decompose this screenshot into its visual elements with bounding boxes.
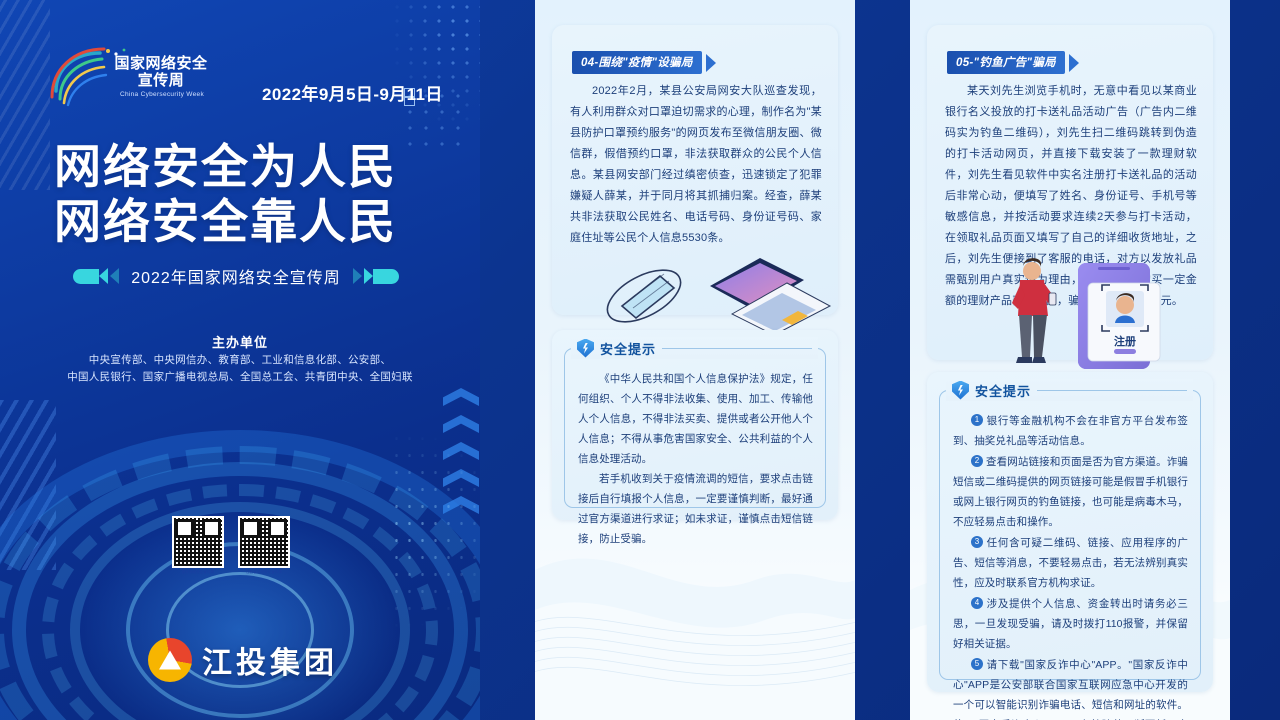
qr-code-1[interactable]: 国家网络安全宣传周 bbox=[172, 516, 224, 568]
subtitle-left-chevrons bbox=[73, 268, 119, 284]
tip-text-2: 查看网站链接和页面是否为官方渠道。诈骗短信或二维码提供的网页链接可能是假冒手机银… bbox=[953, 456, 1188, 528]
qr-code-group: 国家网络安全宣传周 江西省网络安全宣传周 bbox=[172, 516, 290, 568]
laptop-icon bbox=[710, 258, 830, 335]
tip-item-3: 3任何含可疑二维码、链接、应用程序的广告、短信等消息，不要轻易点击，若无法辨别真… bbox=[953, 533, 1188, 593]
cybersecurity-week-logo: 国家网络安全 宣传周 China Cybersecurity Week bbox=[48, 47, 228, 111]
face-mask-icon bbox=[599, 260, 688, 333]
story-badge-label-05: 05-"钓鱼广告"骗局 bbox=[947, 51, 1065, 74]
phone-register-label: 注册 bbox=[1114, 334, 1136, 348]
organizer-line-2: 中国人民银行、国家广播电视总局、全国总工会、共青团中央、全国妇联 bbox=[67, 371, 413, 383]
story-badge-04: 04-围绕"疫情"设骗局 bbox=[572, 51, 716, 74]
tips-paragraph-1: 《中华人民共和国个人信息保护法》规定，任何组织、个人不得非法收集、使用、加工、传… bbox=[578, 369, 813, 469]
company-logo: 江投集团 bbox=[148, 638, 338, 682]
headline-line-2: 网络安全靠人民 bbox=[54, 194, 454, 249]
logo-title-cn: 国家网络安全 宣传周 bbox=[106, 55, 216, 89]
main-headline: 网络安全为人民 网络安全靠人民 bbox=[54, 139, 454, 249]
tip-number-2: 2 bbox=[971, 455, 983, 467]
poster-canvas: 国家网络安全 宣传周 China Cybersecurity Week 2022… bbox=[0, 0, 1280, 720]
shield-icon-right bbox=[952, 381, 969, 400]
shield-icon bbox=[577, 339, 594, 358]
qr-code-2[interactable]: 江西省网络安全宣传周 bbox=[238, 516, 290, 568]
tip-number-5: 5 bbox=[971, 658, 983, 670]
tips-title: 安全提示 bbox=[600, 339, 656, 358]
organizer-title: 主办单位 bbox=[0, 332, 480, 351]
left-hero-panel: 国家网络安全 宣传周 China Cybersecurity Week 2022… bbox=[0, 0, 480, 720]
tip-text-4: 涉及提供个人信息、资金转出时请务必三思，一旦发现受骗，请及时拨打110报警，并保… bbox=[953, 598, 1188, 650]
tips-body-middle: 《中华人民共和国个人信息保护法》规定，任何组织、个人不得非法收集、使用、加工、传… bbox=[578, 369, 813, 549]
qr-code-1-label: 国家网络安全宣传周 bbox=[172, 570, 224, 575]
diagonal-stripes-decor bbox=[0, 0, 50, 190]
badge-arrow-icon bbox=[706, 54, 716, 72]
organizer-line-1: 中央宣传部、中央网信办、教育部、工业和信息化部、公安部、 bbox=[89, 354, 391, 366]
tip-text-5: 请下载"国家反诈中心"APP。"国家反诈中心"APP是公安部联合国家互联网应急中… bbox=[953, 659, 1188, 720]
tips-body-right: 1银行等金融机构不会在非官方平台发布签到、抽奖兑礼品等活动信息。 2查看网站链接… bbox=[953, 411, 1188, 720]
right-content-panel: 05-"钓鱼广告"骗局 某天刘先生浏览手机时，无意中看见以某商业银行名义投放的打… bbox=[910, 0, 1230, 720]
mask-and-laptop-illustration bbox=[582, 250, 832, 335]
tip-item-1: 1银行等金融机构不会在非官方平台发布签到、抽奖兑礼品等活动信息。 bbox=[953, 411, 1188, 451]
tip-text-3: 任何含可疑二维码、链接、应用程序的广告、短信等消息，不要轻易点击，若无法辨别真实… bbox=[953, 537, 1188, 589]
tip-item-5: 5请下载"国家反诈中心"APP。"国家反诈中心"APP是公安部联合国家互联网应急… bbox=[953, 655, 1188, 720]
tip-item-4: 4涉及提供个人信息、资金转出时请务必三思，一旦发现受骗，请及时拨打110报警，并… bbox=[953, 594, 1188, 654]
middle-content-panel: 04-围绕"疫情"设骗局 2022年2月，某县公安局网安大队巡查发现，有人利用群… bbox=[535, 0, 855, 720]
badge-arrow-icon-05 bbox=[1069, 54, 1079, 72]
subtitle-bar: 2022年国家网络安全宣传周 bbox=[62, 262, 410, 290]
person-icon bbox=[1012, 258, 1056, 363]
story-card-04: 04-围绕"疫情"设骗局 2022年2月，某县公安局网安大队巡查发现，有人利用群… bbox=[552, 25, 838, 315]
tip-number-4: 4 bbox=[971, 597, 983, 609]
story-card-05: 05-"钓鱼广告"骗局 某天刘先生浏览手机时，无意中看见以某商业银行名义投放的打… bbox=[927, 25, 1213, 360]
tips-card-right: 安全提示 1银行等金融机构不会在非官方平台发布签到、抽奖兑礼品等活动信息。 2查… bbox=[927, 372, 1213, 692]
story-body-04: 2022年2月，某县公安局网安大队巡查发现，有人利用群众对口罩迫切需求的心理，制… bbox=[570, 81, 822, 249]
logo-title-en: China Cybersecurity Week bbox=[106, 91, 218, 98]
tip-item-2: 2查看网站链接和页面是否为官方渠道。诈骗短信或二维码提供的网页链接可能是假冒手机… bbox=[953, 452, 1188, 532]
organizer-list: 中央宣传部、中央网信办、教育部、工业和信息化部、公安部、 中国人民银行、国家广播… bbox=[0, 352, 480, 386]
company-mark-icon bbox=[148, 638, 192, 682]
story-badge-05: 05-"钓鱼广告"骗局 bbox=[947, 51, 1079, 74]
tips-paragraph-2: 若手机收到关于疫情流调的短信，要求点击链接后自行填报个人信息，一定要谨慎判断，最… bbox=[578, 469, 813, 549]
phone-register-icon: 注册 bbox=[1078, 263, 1160, 369]
tips-title-right: 安全提示 bbox=[975, 381, 1031, 400]
tip-text-1: 银行等金融机构不会在非官方平台发布签到、抽奖兑礼品等活动信息。 bbox=[953, 415, 1188, 447]
tip-number-1: 1 bbox=[971, 414, 983, 426]
tip-number-3: 3 bbox=[971, 536, 983, 548]
tips-divider bbox=[662, 348, 812, 349]
subtitle-right-chevrons bbox=[353, 268, 399, 284]
subtitle-text: 2022年国家网络安全宣传周 bbox=[119, 264, 353, 288]
company-name: 江投集团 bbox=[202, 638, 338, 682]
man-with-phone-illustration: 注册 bbox=[992, 253, 1167, 373]
tips-card-middle: 安全提示 《中华人民共和国个人信息保护法》规定，任何组织、个人不得非法收集、使用… bbox=[552, 330, 838, 520]
event-date-range: 2022年9月5日-9月11日 bbox=[262, 80, 443, 105]
qr-code-2-label: 江西省网络安全宣传周 bbox=[238, 570, 290, 575]
headline-line-1: 网络安全为人民 bbox=[54, 139, 454, 194]
story-badge-label: 04-围绕"疫情"设骗局 bbox=[572, 51, 702, 74]
tips-divider-right bbox=[1037, 390, 1187, 391]
